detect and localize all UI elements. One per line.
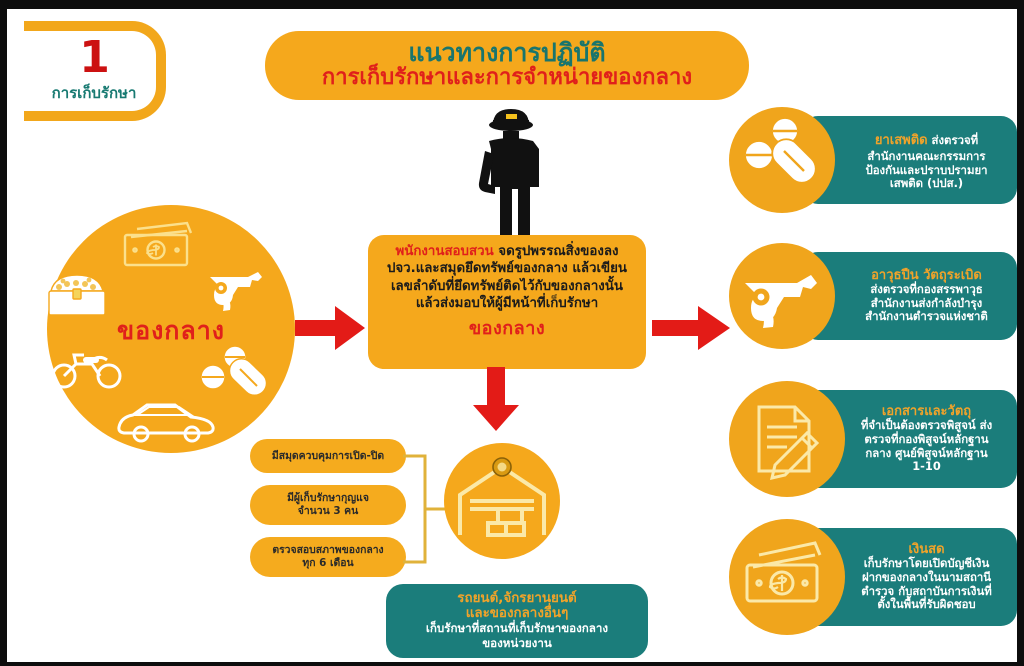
step-number: 1	[79, 37, 109, 79]
police-officer-icon	[459, 105, 563, 245]
category-body-line: ตั้งในพื้นที่รับผิดชอบ	[844, 598, 1009, 612]
category-body-line: ป้องกันและปราบปรามยา	[844, 164, 1009, 178]
document-pen-icon	[729, 381, 845, 497]
process-line-2: ปจว.และสมุดยึดทรัพย์ของกลาง แล้วเขียน	[376, 260, 638, 277]
condition-pill: มีสมุดควบคุมการเปิด-ปิด	[250, 439, 406, 473]
money-icon	[119, 219, 203, 273]
title-line-2: การเก็บรักษาและการจำหน่ายของกลาง	[322, 66, 692, 91]
infographic-frame: 1 การเก็บรักษา แนวทางการปฏิบัติ การเก็บร…	[0, 0, 1024, 666]
category-body-line: ที่จำเป็นต้องตรวจพิสูจน์ ส่ง	[844, 419, 1009, 433]
category-heading: อาวุธปืน วัตถุระเบิด	[844, 268, 1009, 283]
category-body-line: ตรวจที่กองพิสูจน์หลักฐาน	[844, 433, 1009, 447]
bottom-box-heading-1: รถยนต์,จักรยานยนต์	[457, 591, 576, 606]
bottom-storage-box: รถยนต์,จักรยานยนต์ และของกลางอื่นๆ เก็บร…	[386, 584, 648, 658]
process-line-4: แล้วส่งมอบให้ผู้มีหน้าที่เก็บรักษา	[376, 295, 638, 312]
warehouse-circle	[444, 443, 560, 559]
condition-pill: มีผู้เก็บรักษากุญแจ จำนวน 3 คน	[250, 485, 406, 525]
evidence-label: ของกลาง	[47, 311, 295, 351]
condition-pill-label: มีสมุดควบคุมการเปิด-ปิด	[272, 450, 384, 463]
category-body-line: กลาง ศูนย์พิสูจน์หลักฐาน	[844, 447, 1009, 461]
arrow-right-to-categories	[652, 306, 730, 350]
category-body-line: สำนักงานคณะกรรมการ	[844, 150, 1009, 164]
category-body-line: เสพติด (ปปส.)	[844, 177, 1009, 191]
process-line-1: พนักงานสอบสวน จดรูปพรรณสิ่งของลง	[376, 243, 638, 260]
evidence-circle: ของกลาง	[47, 205, 295, 453]
category-row-cash: เงินสด เก็บรักษาโดยเปิดบัญชีเงิน ฝากของก…	[729, 519, 1017, 635]
infographic-canvas: 1 การเก็บรักษา แนวทางการปฏิบัติ การเก็บร…	[7, 9, 1017, 662]
category-body-line: ฝากของกลางในนามสถานี	[844, 571, 1009, 585]
process-line-1-highlight: พนักงานสอบสวน	[395, 244, 493, 259]
category-body-line: สำนักงานตำรวจแห่งชาติ	[844, 310, 1009, 324]
category-body-first: ส่งตรวจที่	[928, 133, 979, 147]
category-body-line: ส่งตรวจที่กองสรรพาวุธ	[844, 283, 1009, 297]
condition-pill: ตรวจสอบสภาพของกลาง ทุก 6 เดือน	[250, 537, 406, 577]
category-body-line: สำนักงานส่งกำลังบำรุง	[844, 297, 1009, 311]
category-body-line: 1-10	[844, 460, 1009, 474]
car-icon	[113, 395, 219, 447]
bottom-box-heading-2: และของกลางอื่นๆ	[466, 606, 569, 621]
process-line-3: เลขลำดับที่ยึดทรัพย์ติดไว้กับของกลางนั้น	[376, 278, 638, 295]
bottom-box-body-2: ของหน่วยงาน	[482, 637, 552, 651]
category-heading-line: ยาเสพติด ส่งตรวจที่	[844, 129, 1009, 150]
category-row-narcotics: ยาเสพติด ส่งตรวจที่ สำนักงานคณะกรรมการ ป…	[729, 107, 1017, 213]
process-line-1-rest: จดรูปพรรณสิ่งของลง	[494, 244, 619, 259]
category-row-documents: เอกสารและวัตถุ ที่จำเป็นต้องตรวจพิสูจน์ …	[729, 381, 1017, 497]
revolver-icon	[729, 243, 835, 349]
title-banner: แนวทางการปฏิบัติ การเก็บรักษาและการจำหน่…	[265, 31, 749, 100]
step-label: การเก็บรักษา	[52, 81, 137, 105]
bottom-box-body-1: เก็บรักษาที่สถานที่เก็บรักษาของกลาง	[426, 622, 608, 636]
process-footer: ของกลาง	[376, 313, 638, 342]
banknotes-icon	[729, 519, 845, 635]
category-body-line: เก็บรักษาโดยเปิดบัญชีเงิน	[844, 557, 1009, 571]
arrow-down-to-warehouse	[473, 367, 519, 431]
category-heading: เงินสด	[844, 542, 1009, 557]
category-row-firearms: อาวุธปืน วัตถุระเบิด ส่งตรวจที่กองสรรพาว…	[729, 243, 1017, 349]
arrow-right-to-process	[295, 306, 365, 350]
condition-pill-label: มีผู้เก็บรักษากุญแจ จำนวน 3 คน	[287, 492, 369, 518]
step-badge: 1 การเก็บรักษา	[24, 21, 166, 121]
process-box: พนักงานสอบสวน จดรูปพรรณสิ่งของลง ปจว.และ…	[368, 235, 646, 369]
category-heading: ยาเสพติด	[875, 133, 928, 148]
pills-icon	[729, 107, 835, 213]
category-heading: เอกสารและวัตถุ	[844, 404, 1009, 419]
condition-pill-label: ตรวจสอบสภาพของกลาง ทุก 6 เดือน	[272, 544, 383, 570]
title-line-1: แนวทางการปฏิบัติ	[408, 40, 605, 66]
